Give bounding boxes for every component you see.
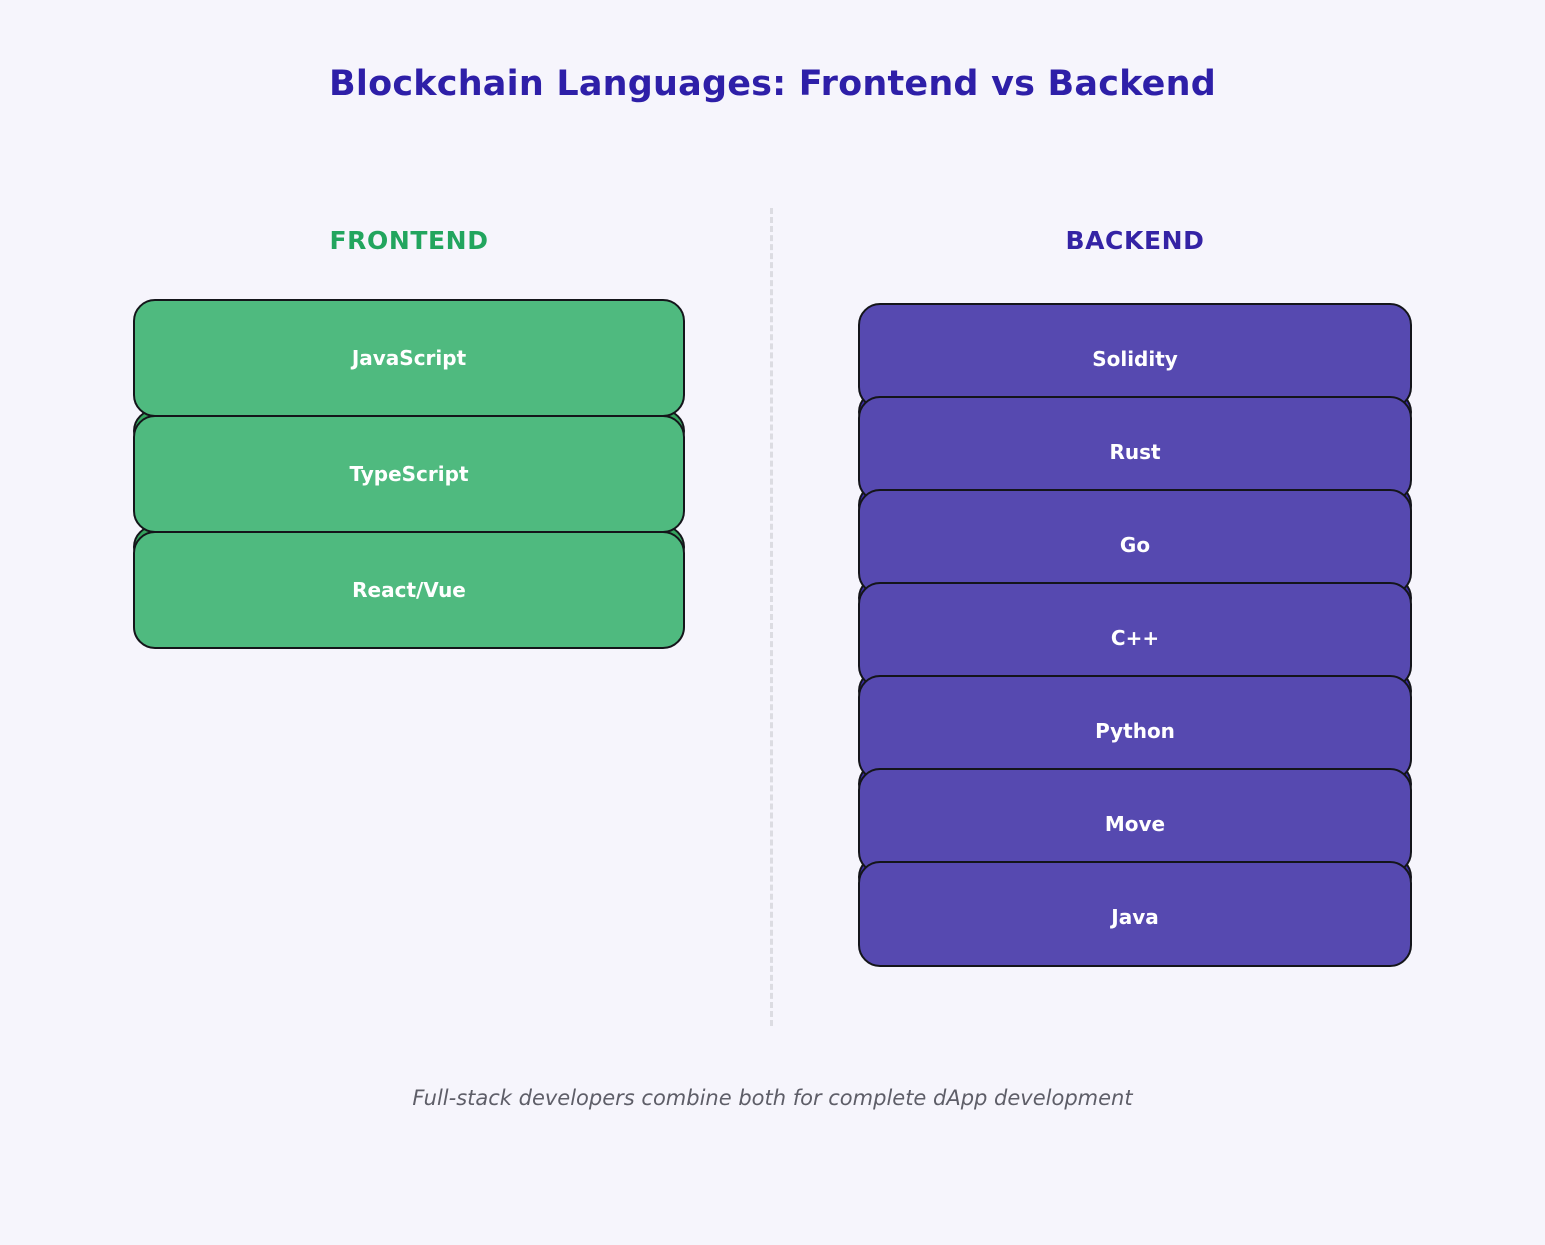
column-header-backend: BACKEND	[858, 226, 1412, 255]
column-header-frontend: FRONTEND	[133, 226, 685, 255]
layer-frontend-typescript[interactable]: TypeScript	[133, 415, 685, 533]
layer-label: TypeScript	[349, 464, 468, 484]
layer-backend-solidity[interactable]: Solidity	[858, 303, 1412, 409]
diagram-canvas: Blockchain Languages: Frontend vs Backen…	[0, 0, 1545, 1245]
layer-label: Go	[1120, 535, 1150, 555]
layer-label: Python	[1095, 721, 1175, 741]
footer-note: Full-stack developers combine both for c…	[0, 1086, 1545, 1110]
backend-stack: SolidityRustGoC++PythonMoveJava	[858, 303, 1412, 975]
layer-label: Move	[1105, 814, 1165, 834]
layer-backend-c[interactable]: C++	[858, 582, 1412, 688]
layer-label: JavaScript	[352, 348, 466, 368]
layer-label: Solidity	[1092, 349, 1178, 369]
column-divider	[770, 208, 773, 1026]
layer-label: React/Vue	[352, 580, 466, 600]
layer-label: Java	[1111, 907, 1158, 927]
layer-frontend-react-vue[interactable]: React/Vue	[133, 531, 685, 649]
layer-frontend-javascript[interactable]: JavaScript	[133, 299, 685, 417]
frontend-stack: JavaScriptTypeScriptReact/Vue	[133, 299, 685, 655]
page-title: Blockchain Languages: Frontend vs Backen…	[0, 64, 1545, 104]
layer-backend-rust[interactable]: Rust	[858, 396, 1412, 502]
layer-label: C++	[1111, 628, 1159, 648]
layer-backend-go[interactable]: Go	[858, 489, 1412, 595]
layer-backend-java[interactable]: Java	[858, 861, 1412, 967]
layer-backend-move[interactable]: Move	[858, 768, 1412, 874]
layer-backend-python[interactable]: Python	[858, 675, 1412, 781]
layer-label: Rust	[1109, 442, 1160, 462]
